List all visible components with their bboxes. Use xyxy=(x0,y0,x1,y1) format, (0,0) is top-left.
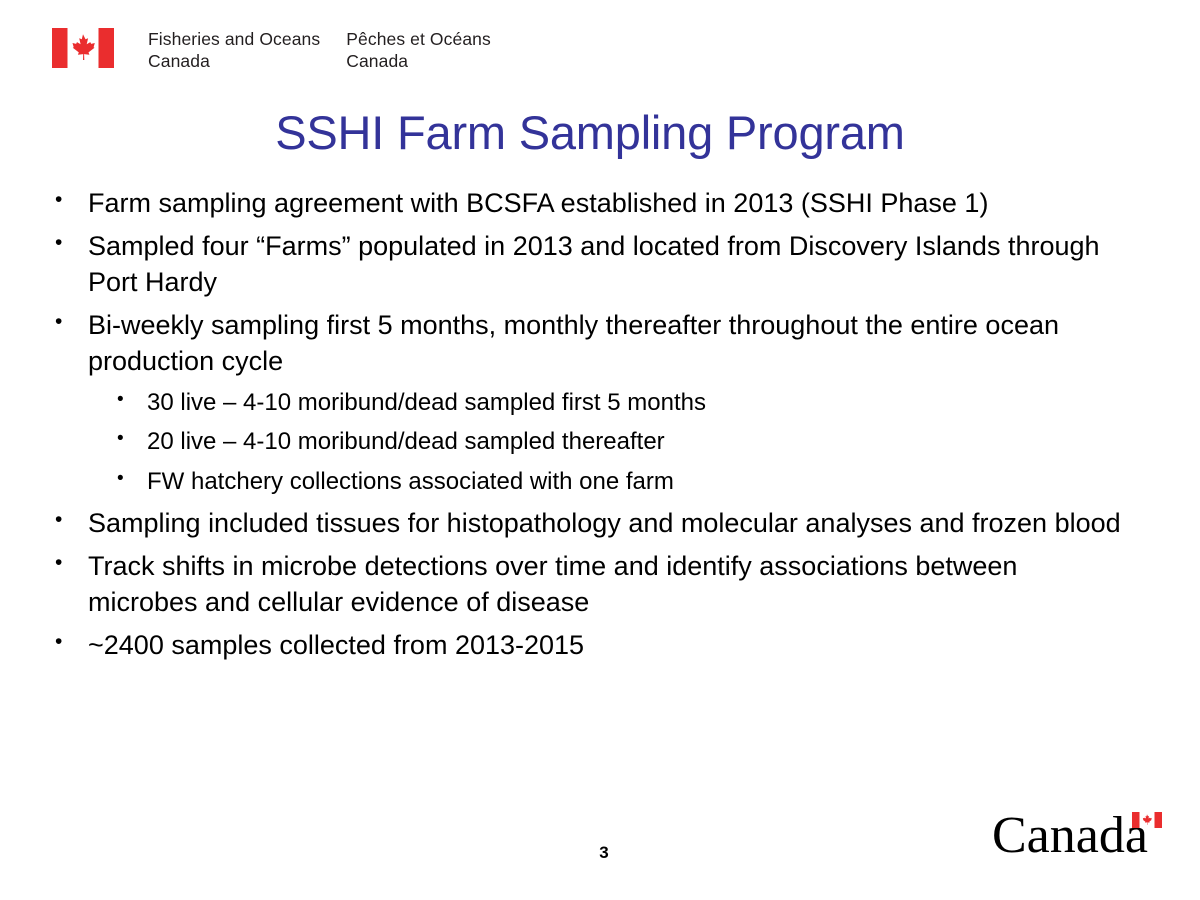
department-name-fr: Pêches et Océans Canada xyxy=(346,28,491,73)
canada-wordmark: Canada xyxy=(992,808,1164,866)
bullet-list: • Farm sampling agreement with BCSFA est… xyxy=(55,186,1155,671)
sub-list-item-text: 20 live – 4-10 moribund/dead sampled the… xyxy=(147,426,1107,458)
sub-list-item: • 30 live – 4-10 moribund/dead sampled f… xyxy=(55,387,1155,419)
bullet-marker-icon: • xyxy=(117,387,147,412)
sub-list-item-text: FW hatchery collections associated with … xyxy=(147,466,1107,498)
slide-title: SSHI Farm Sampling Program xyxy=(0,105,1180,160)
list-item-text: Farm sampling agreement with BCSFA estab… xyxy=(88,186,1123,222)
sub-list-item: • 20 live – 4-10 moribund/dead sampled t… xyxy=(55,426,1155,458)
slide: Fisheries and Oceans Canada Pêches et Oc… xyxy=(0,0,1200,900)
signature-text-group: Fisheries and Oceans Canada Pêches et Oc… xyxy=(148,28,491,73)
list-item: • Sampling included tissues for histopat… xyxy=(55,506,1155,542)
bullet-marker-icon: • xyxy=(55,308,88,336)
svg-text:Canada: Canada xyxy=(992,808,1148,864)
bullet-marker-icon: • xyxy=(55,628,88,656)
bullet-marker-icon: • xyxy=(117,466,147,491)
bullet-marker-icon: • xyxy=(55,186,88,214)
list-item: • Bi-weekly sampling first 5 months, mon… xyxy=(55,308,1155,380)
sub-list-item: • FW hatchery collections associated wit… xyxy=(55,466,1155,498)
government-signature: Fisheries and Oceans Canada Pêches et Oc… xyxy=(52,28,491,73)
list-item-text: Sampling included tissues for histopatho… xyxy=(88,506,1123,542)
bullet-marker-icon: • xyxy=(55,506,88,534)
bullet-marker-icon: • xyxy=(55,229,88,257)
department-name-en: Fisheries and Oceans Canada xyxy=(148,28,320,73)
list-item: • ~2400 samples collected from 2013-2015 xyxy=(55,628,1155,664)
canada-flag-icon xyxy=(1132,812,1162,828)
list-item-text: Track shifts in microbe detections over … xyxy=(88,549,1123,621)
sub-list-item-text: 30 live – 4-10 moribund/dead sampled fir… xyxy=(147,387,1107,419)
list-item: • Sampled four “Farms” populated in 2013… xyxy=(55,229,1155,301)
list-item-text: ~2400 samples collected from 2013-2015 xyxy=(88,628,1123,664)
list-item: • Track shifts in microbe detections ove… xyxy=(55,549,1155,621)
canada-flag-icon xyxy=(52,28,114,68)
list-item-text: Bi-weekly sampling first 5 months, month… xyxy=(88,308,1123,380)
bullet-marker-icon: • xyxy=(117,426,147,451)
list-item: • Farm sampling agreement with BCSFA est… xyxy=(55,186,1155,222)
list-item-text: Sampled four “Farms” populated in 2013 a… xyxy=(88,229,1123,301)
bullet-marker-icon: • xyxy=(55,549,88,577)
